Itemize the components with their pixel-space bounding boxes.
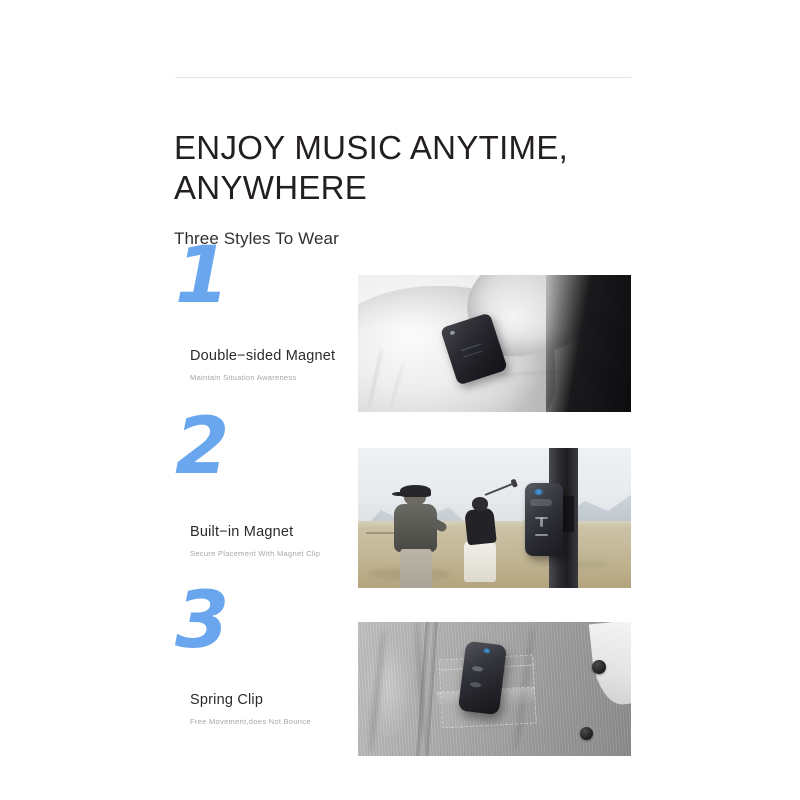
- feature-card-2[interactable]: Built−in Magnet Secure Placement With Ma…: [173, 448, 631, 588]
- wearable-speaker-device: [458, 641, 507, 715]
- wearable-speaker-device: [525, 483, 563, 556]
- baseball-cap-shape: [400, 485, 431, 496]
- torso-shape: [394, 504, 437, 552]
- feature-photo-2: [358, 448, 631, 588]
- legs-shape: [464, 541, 496, 583]
- feature-title: Double−sided Magnet: [190, 348, 335, 364]
- center-button-glyph: [540, 517, 543, 526]
- feature-title: Spring Clip: [190, 692, 263, 708]
- product-feature-page: ENJOY MUSIC ANYTIME, ANYWHERE Three Styl…: [0, 0, 800, 800]
- feature-subtitle: Free Movement,does Not Bounce: [190, 717, 311, 726]
- headline-block: ENJOY MUSIC ANYTIME, ANYWHERE Three Styl…: [174, 128, 694, 250]
- dark-background-area: [546, 275, 631, 412]
- feature-photo-1: [358, 275, 631, 412]
- feature-number-3: 3: [175, 582, 227, 660]
- feature-number-1: 1: [175, 237, 227, 315]
- torso-shape: [464, 507, 497, 545]
- standing-man-figure: [393, 484, 439, 588]
- volume-down-button-glyph: [535, 534, 548, 536]
- feature-title: Built−in Magnet: [190, 524, 293, 540]
- feature-photo-3: [358, 622, 631, 756]
- legs-shape: [400, 549, 432, 588]
- feature-subtitle: Maintain Situation Awareness: [190, 373, 296, 382]
- feature-card-1[interactable]: Double−sided Magnet Maintain Situation A…: [173, 275, 631, 412]
- golfer-figure: [462, 496, 500, 583]
- shirt-button: [592, 660, 606, 674]
- feature-subtitle: Secure Placement With Magnet Clip: [190, 549, 320, 558]
- feature-card-3[interactable]: Spring Clip Free Movement,does Not Bounc…: [173, 622, 631, 756]
- device-buttons: [535, 516, 548, 538]
- shirt-button: [580, 727, 593, 740]
- top-divider: [175, 77, 631, 78]
- page-subtitle: Three Styles To Wear: [174, 208, 694, 250]
- feature-number-2: 2: [175, 408, 227, 486]
- page-title: ENJOY MUSIC ANYTIME, ANYWHERE: [174, 128, 694, 208]
